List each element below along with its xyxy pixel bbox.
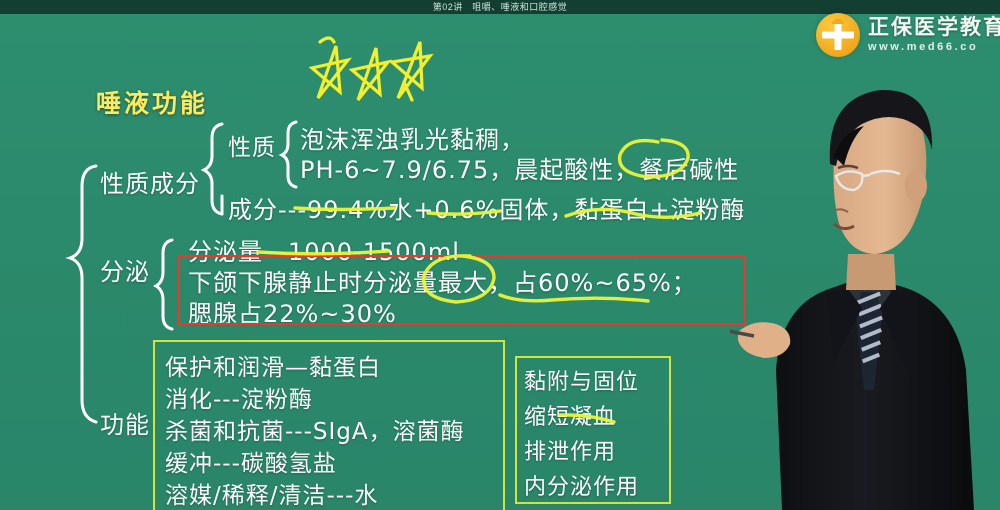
brand-url: www.med66.co xyxy=(868,42,1000,53)
brand-logo: 正保医学教育 www.med66.co xyxy=(816,12,1000,58)
pen-annotations xyxy=(258,140,700,422)
brand-name: 正保医学教育 xyxy=(868,17,1000,38)
presenter-hand xyxy=(730,322,790,358)
star-scribble-icon xyxy=(312,38,430,100)
presenter-figure xyxy=(730,40,1000,510)
lecture-video-frame: 第02讲 咀嚼、唾液和口腔感觉 正保医学教育 www.med66.co xyxy=(0,0,1000,510)
cross-circle-icon xyxy=(816,13,860,57)
